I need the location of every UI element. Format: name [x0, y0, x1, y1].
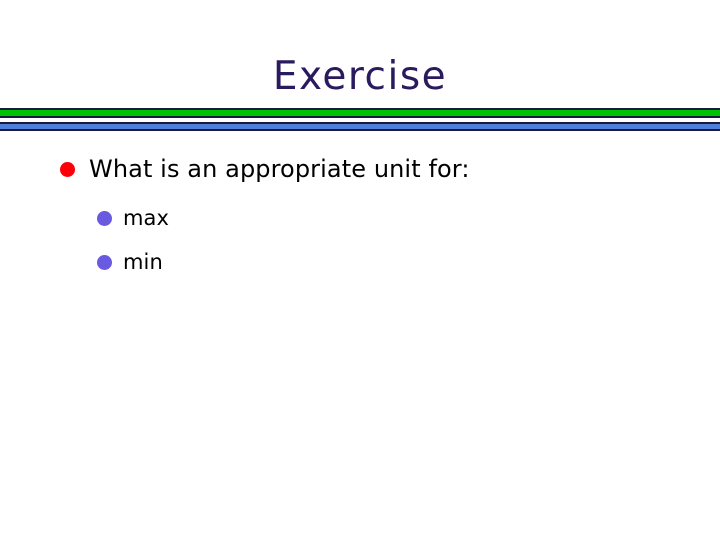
slide-title: Exercise: [0, 53, 720, 101]
bullet-item-max: max: [0, 202, 720, 234]
title-divider: [0, 108, 720, 131]
bullet-item-question: What is an appropriate unit for:: [0, 150, 720, 188]
bullet-item-min: min: [0, 246, 720, 278]
slide-body: What is an appropriate unit for: max min: [0, 150, 720, 290]
purple-disc-bullet-icon: [97, 211, 112, 226]
red-disc-bullet-icon: [60, 162, 75, 177]
divider-line-bottom: [0, 129, 720, 131]
presentation-slide: Exercise What is an appropriate unit for…: [0, 0, 720, 540]
bullet-label-question: What is an appropriate unit for:: [89, 150, 470, 188]
bullet-label-min: min: [123, 246, 163, 278]
bullet-label-max: max: [123, 202, 169, 234]
purple-disc-bullet-icon: [97, 255, 112, 270]
